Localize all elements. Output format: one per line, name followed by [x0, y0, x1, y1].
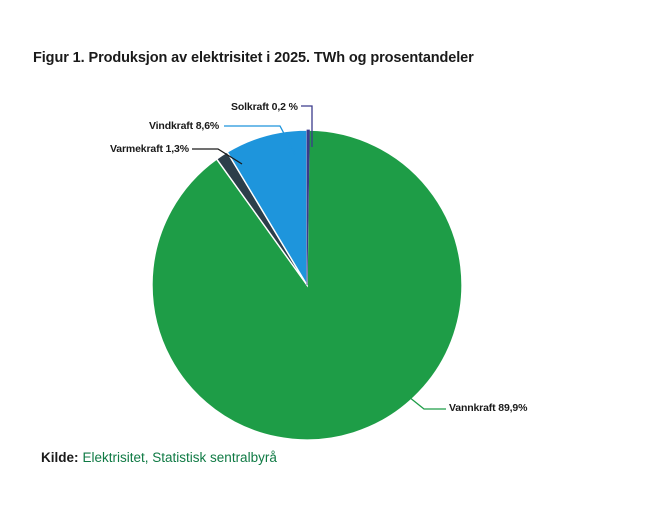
pie-chart-svg: [0, 0, 650, 500]
source-label: Kilde:: [41, 450, 79, 465]
pie-label-solkraft: Solkraft 0,2 %: [231, 101, 298, 113]
pie-label-varmekraft: Varmekraft 1,3%: [110, 143, 189, 155]
figure-container: Figur 1. Produksjon av elektrisitet i 20…: [0, 0, 650, 500]
pie-label-vindkraft: Vindkraft 8,6%: [149, 120, 219, 132]
pie-label-vannkraft: Vannkraft 89,9%: [449, 402, 527, 414]
source-link[interactable]: Elektrisitet, Statistisk sentralbyrå: [83, 450, 277, 465]
source-line: Kilde:Elektrisitet, Statistisk sentralby…: [41, 450, 277, 465]
pie-chart: Solkraft 0,2 % Vindkraft 8,6% Varmekraft…: [0, 0, 650, 500]
